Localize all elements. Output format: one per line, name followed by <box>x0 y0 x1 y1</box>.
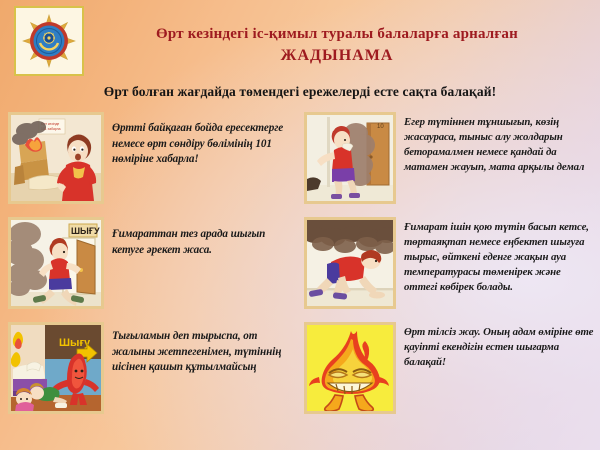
emblem-frame <box>14 6 84 76</box>
rules-grid: Өрт кезінде 101 хабарла <box>0 110 600 432</box>
rule-item-3: ШЫҒУ <box>0 215 300 320</box>
poster-header: Өрт кезіндегі іс-қимыл туралы балаларға … <box>0 0 600 110</box>
rule-text-3: Ғимараттан тез арада шығып кетуге әрекет… <box>104 217 296 258</box>
svg-text:10: 10 <box>377 124 384 130</box>
rule-text-2: Егер түтіннен тұншығып, көзің жасаураса,… <box>396 112 596 175</box>
girl-covering-face-from-smoke-illustration: 10 <box>304 112 396 204</box>
poster-subtitle: Өрт болған жағдайда төмендегі ережелерді… <box>0 84 600 100</box>
rule-item-6: Өрт тілсіз жау. Оның адам өміріне өте қа… <box>300 320 600 427</box>
exit-sign-label-3: ШЫҒУ <box>71 226 100 236</box>
poster-title: Өрт кезіндегі іс-қимыл туралы балаларға … <box>98 24 576 67</box>
rule-item-4: Ғимарат ішін қою түтін басып кетсе, төрт… <box>300 215 600 320</box>
flame-character-pulling-hiding-children-illustration: Шығу <box>8 322 104 414</box>
boy-crawling-under-smoke-illustration <box>304 217 396 309</box>
boy-sees-burning-sofa-illustration: Өрт кезінде 101 хабарла <box>8 112 104 204</box>
rule-text-4: Ғимарат ішін қою түтін басып кетсе, төрт… <box>396 217 596 295</box>
rule-text-6: Өрт тілсіз жау. Оның адам өміріне өте қа… <box>396 322 596 370</box>
rule-item-2: 10 <box>300 110 600 215</box>
title-line-1: Өрт кезіндегі іс-қимыл туралы балаларға … <box>98 24 576 44</box>
rule-item-5: Шығу <box>0 320 300 427</box>
title-line-2: ЖАДЫНАМА <box>98 45 576 67</box>
boy-running-through-exit-door-illustration: ШЫҒУ <box>8 217 104 309</box>
rule-item-1: Өрт кезінде 101 хабарла <box>0 110 300 215</box>
grinning-evil-flame-character-illustration <box>304 322 396 414</box>
rule-text-5: Тығыламын деп тырыспа, от жалыны жетпеге… <box>104 322 296 376</box>
kazakhstan-emergency-service-emblem <box>21 13 77 69</box>
rule-text-1: Өртті байқаған бойда ересектерге немесе … <box>104 112 296 168</box>
exit-sign-label-5: Шығу <box>59 337 91 349</box>
